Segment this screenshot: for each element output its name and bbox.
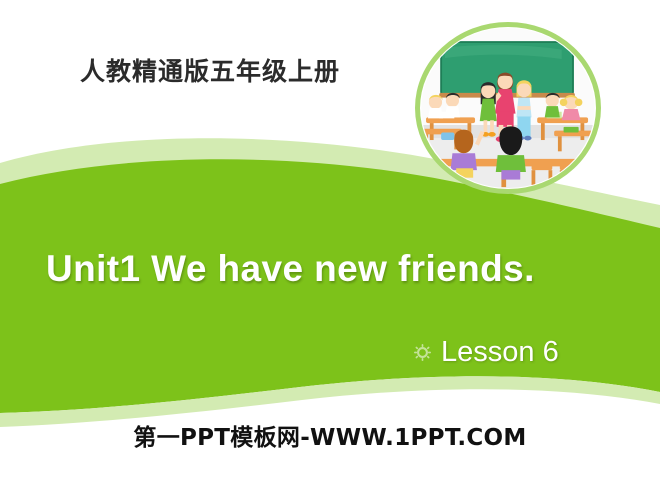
gear-bullet-icon xyxy=(414,344,431,361)
lesson-label: Lesson 6 xyxy=(441,336,559,369)
illustration-ring-border xyxy=(415,22,601,194)
footer-watermark: 第一PPT模板网-WWW.1PPT.COM xyxy=(0,418,660,452)
classroom-illustration xyxy=(415,22,601,194)
classroom-scene-svg xyxy=(420,27,596,189)
textbook-edition-heading: 人教精通版五年级上册 xyxy=(80,52,340,88)
slide-canvas: 人教精通版五年级上册 xyxy=(0,0,660,495)
page-title: Unit1 We have new friends. xyxy=(46,248,535,290)
lesson-subtitle-row: Lesson 6 xyxy=(414,336,559,369)
